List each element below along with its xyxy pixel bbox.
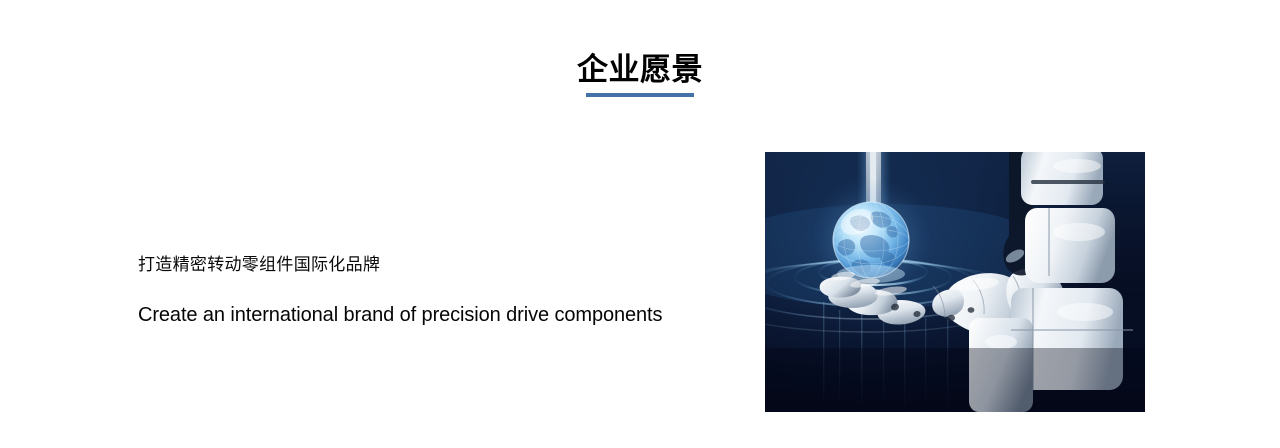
- holographic-globe: [833, 202, 909, 283]
- page-title: 企业愿景: [576, 52, 704, 91]
- vision-statement-chinese: 打造精密转动零组件国际化品牌: [138, 252, 718, 278]
- page-title-block: 企业愿景: [0, 52, 1280, 97]
- figure-vignette: [765, 348, 1145, 412]
- robot-globe-illustration-graphic: [765, 152, 1145, 412]
- vision-illustration: [765, 152, 1145, 412]
- vision-statement-english: Create an international brand of precisi…: [138, 302, 718, 328]
- vision-statement-block: 打造精密转动零组件国际化品牌 Create an international b…: [138, 252, 718, 328]
- title-underline-rule: [586, 93, 694, 97]
